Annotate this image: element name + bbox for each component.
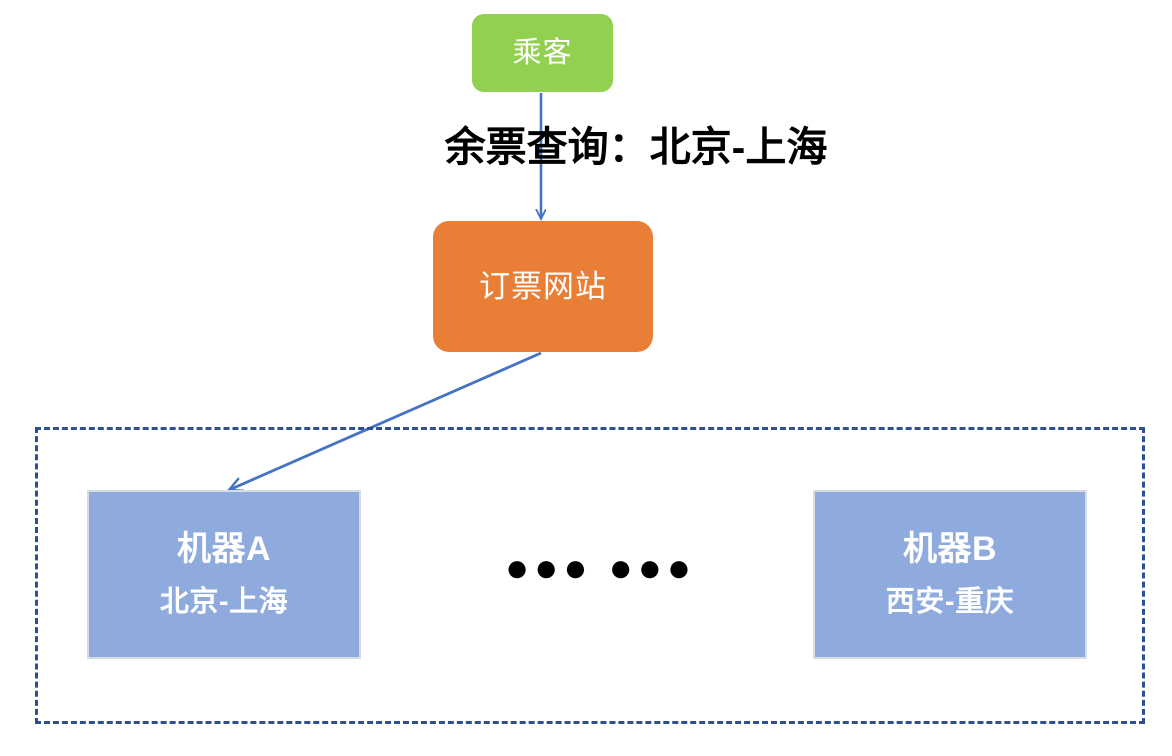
- edge-label-query: 余票查询：北京-上海: [396, 125, 876, 170]
- machine-list-ellipsis: ●●● ●●●: [505, 548, 660, 588]
- node-actor-passenger[interactable]: 乘客: [472, 14, 613, 92]
- machine-a-title: 机器A: [177, 532, 271, 566]
- node-system-label: 订票网站: [479, 271, 607, 302]
- machine-a-route: 北京-上海: [160, 588, 288, 617]
- node-actor-label: 乘客: [512, 39, 572, 68]
- node-system-booking-site[interactable]: 订票网站: [433, 221, 653, 352]
- node-machine-b[interactable]: 机器B 西安-重庆: [813, 490, 1087, 659]
- diagram-canvas: 乘客 余票查询：北京-上海 订票网站 机器A 北京-上海 ●●● ●●● 机器B…: [0, 0, 1172, 756]
- machine-b-route: 西安-重庆: [886, 588, 1014, 617]
- node-machine-a[interactable]: 机器A 北京-上海: [87, 490, 361, 659]
- machine-b-title: 机器B: [903, 532, 997, 566]
